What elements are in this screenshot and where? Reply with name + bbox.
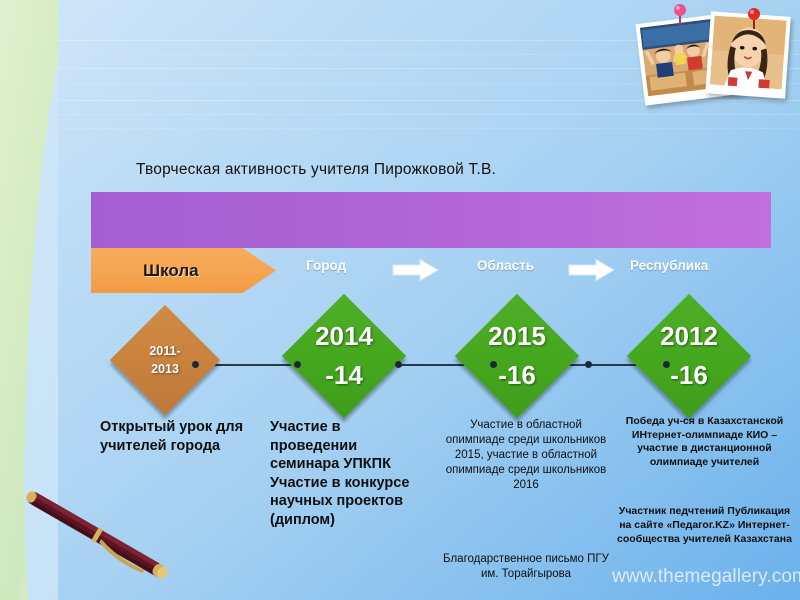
timeline-diamond-2014-14[interactable]: 2014 -14 <box>300 312 388 400</box>
timeline-node-dot <box>585 361 592 368</box>
caption-column-1: Открытый урок для учителей города <box>100 418 260 455</box>
caption-column-2: Участие в проведении семинара УПКПК Учас… <box>270 418 420 529</box>
timeline-connector-line <box>195 364 665 366</box>
purple-banner-bar <box>91 192 771 248</box>
caption-column-4-secondary: Участник педчтений Публикация на сайте «… <box>612 505 797 547</box>
level-label-city[interactable]: Город <box>306 258 346 273</box>
caption-column-3-secondary: Благодарственное письмо ПГУ им. Торайгыр… <box>440 552 612 582</box>
caption-column-3: Участие в областной опимпиаде среди школ… <box>440 418 612 493</box>
slide-title: Творческая активность учителя Пирожковой… <box>136 161 496 179</box>
timeline-node-dot <box>663 361 670 368</box>
red-pushpin-icon <box>746 8 762 30</box>
timeline-node-dot <box>192 361 199 368</box>
timeline-diamond-label: 2014 -14 <box>315 317 373 395</box>
timeline-diamond-label: 2012 -16 <box>660 317 718 395</box>
level-chevron-school[interactable]: Школа <box>91 248 276 293</box>
timeline-node-dot <box>490 361 497 368</box>
watermark-text: www.themegallery.com <box>612 566 800 588</box>
caption-column-4: Победа уч-ся в Казахстанской ИНтернет-ол… <box>612 415 797 470</box>
timeline-node-dot <box>395 361 402 368</box>
timeline-diamond-2012-16[interactable]: 2012 -16 <box>645 312 733 400</box>
right-arrow-icon <box>392 258 440 282</box>
level-label-region[interactable]: Область <box>477 258 534 273</box>
timeline-diamond-label: 2015 -16 <box>488 317 546 395</box>
photo-collage <box>632 2 794 114</box>
timeline-diamond-2015-16[interactable]: 2015 -16 <box>473 312 561 400</box>
timeline-diamond-2011-2013[interactable]: 2011- 2013 <box>126 321 204 399</box>
presentation-slide: Творческая активность учителя Пирожковой… <box>0 0 800 600</box>
right-arrow-icon <box>568 258 616 282</box>
timeline-node-dot <box>294 361 301 368</box>
timeline-diamond-label: 2011- 2013 <box>149 342 180 378</box>
level-chevron-label: Школа <box>143 261 199 281</box>
fountain-pen-image <box>6 488 186 584</box>
pink-pushpin-icon <box>672 4 688 26</box>
level-label-republic[interactable]: Республика <box>630 258 708 273</box>
